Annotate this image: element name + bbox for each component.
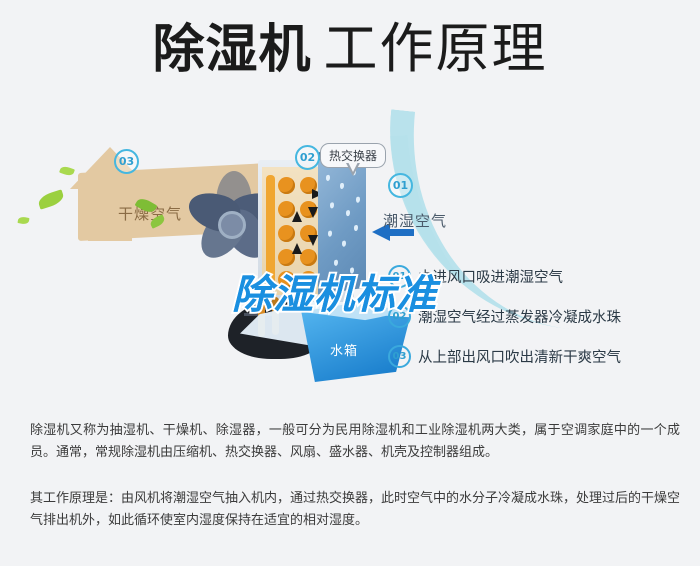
leaf-icon [37, 189, 66, 209]
description-paragraph-2: 其工作原理是：由风机将潮湿空气抽入机内，通过热交换器，此时空气中的水分子冷凝成水… [30, 488, 680, 532]
water-tank-label: 水箱 [330, 340, 358, 359]
watermark-text: 除湿机标准 [232, 262, 437, 320]
description-paragraph-1: 除湿机又称为抽湿机、干燥机、除湿器，一般可分为民用除湿机和工业除湿机两大类，属于… [30, 420, 680, 464]
page-title: 除湿机工作原理 [0, 22, 700, 76]
step-number: 03 [388, 345, 411, 368]
poster-canvas: 除湿机工作原理 干燥空气 [0, 0, 700, 566]
leaf-icon [17, 216, 29, 225]
step-label: 由进风口吸进潮湿空气 [418, 266, 563, 287]
diagram-badge-01: 01 [388, 173, 413, 198]
humid-air-label: 潮湿空气 [383, 210, 447, 231]
page-title-light: 工作原理 [324, 17, 548, 80]
diagram-badge-02: 02 [295, 145, 320, 170]
step-item: 03 从上部出风口吹出清新干爽空气 [388, 345, 688, 368]
callout-pointer-inner [348, 162, 358, 172]
step-label: 潮湿空气经过蒸发器冷凝成水珠 [418, 306, 621, 327]
step-label: 从上部出风口吹出清新干爽空气 [418, 346, 621, 367]
diagram-badge-03: 03 [114, 149, 139, 174]
page-title-bold: 除湿机 [152, 20, 311, 80]
